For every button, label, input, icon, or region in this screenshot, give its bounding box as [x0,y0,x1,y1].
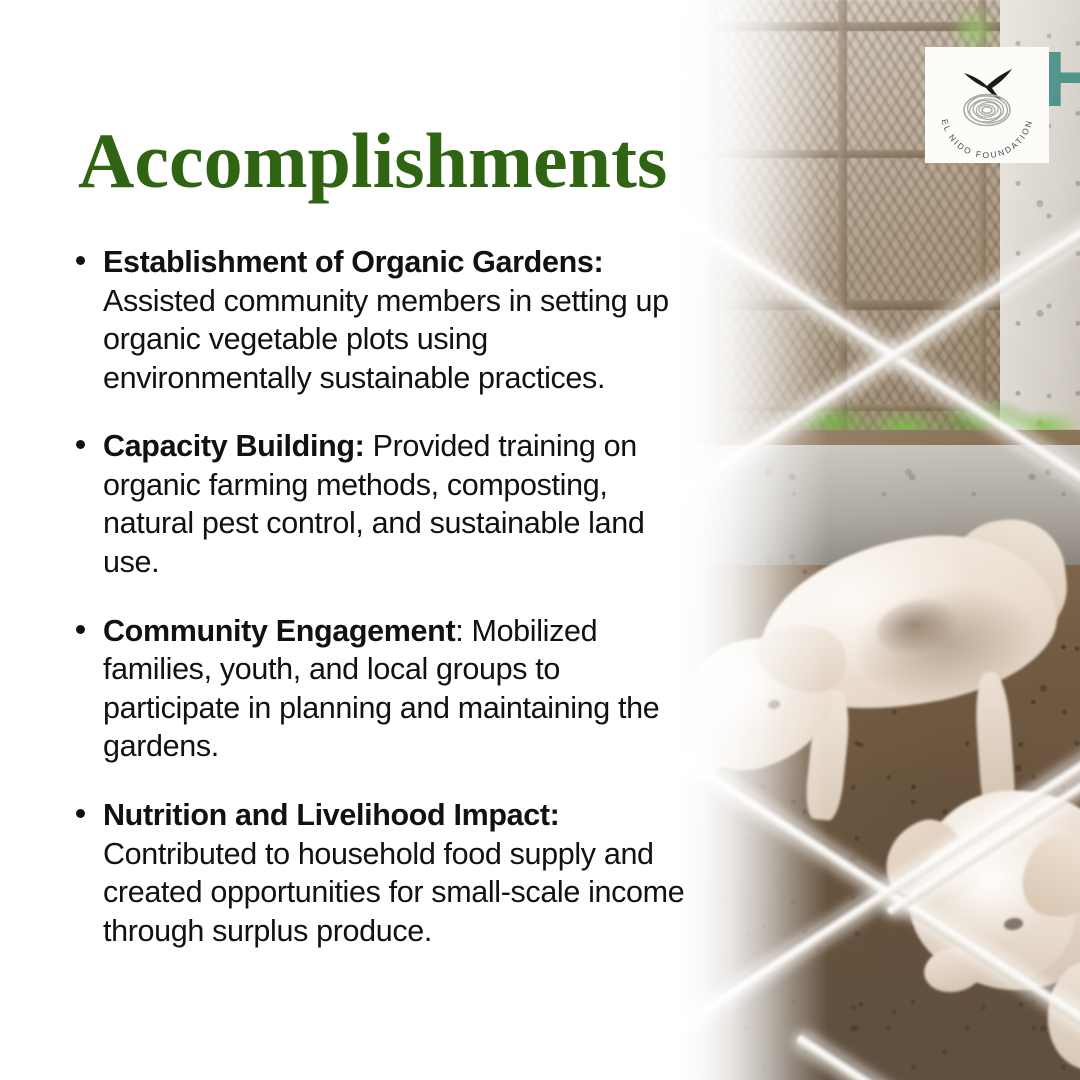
nest-icon [964,94,1010,125]
list-item-lead: Community Engagement [103,614,455,648]
poster-canvas: HA [0,0,1080,1080]
content-column: Accomplishments Establishment of Organic… [0,0,690,1080]
list-item: Establishment of Organic Gardens: Assist… [70,243,685,397]
list-item-lead: Nutrition and Livelihood Impact: [103,798,559,832]
accomplishments-list: Establishment of Organic Gardens: Assist… [70,243,685,950]
bullet-dot-icon [76,256,85,265]
bullet-dot-icon [76,809,85,818]
list-item-body: Contributed to household food supply and… [103,837,684,948]
list-item: Capacity Building: Provided training on … [70,427,685,581]
bullet-dot-icon [76,440,85,449]
list-item: Community Engagement: Mobilized families… [70,612,685,766]
logo-svg: EL NIDO FOUNDATION [931,52,1043,158]
page-title: Accomplishments [78,122,667,200]
bullet-dot-icon [76,625,85,634]
logo-wordmark: EL NIDO FOUNDATION [940,118,1035,158]
list-item-body: Assisted community members in setting up… [103,284,669,395]
list-item-lead: Capacity Building: [103,429,364,463]
list-item-lead: Establishment of Organic Gardens: [103,245,603,279]
list-item: Nutrition and Livelihood Impact: Contrib… [70,796,685,950]
el-nido-foundation-logo-badge: EL NIDO FOUNDATION [925,47,1049,163]
